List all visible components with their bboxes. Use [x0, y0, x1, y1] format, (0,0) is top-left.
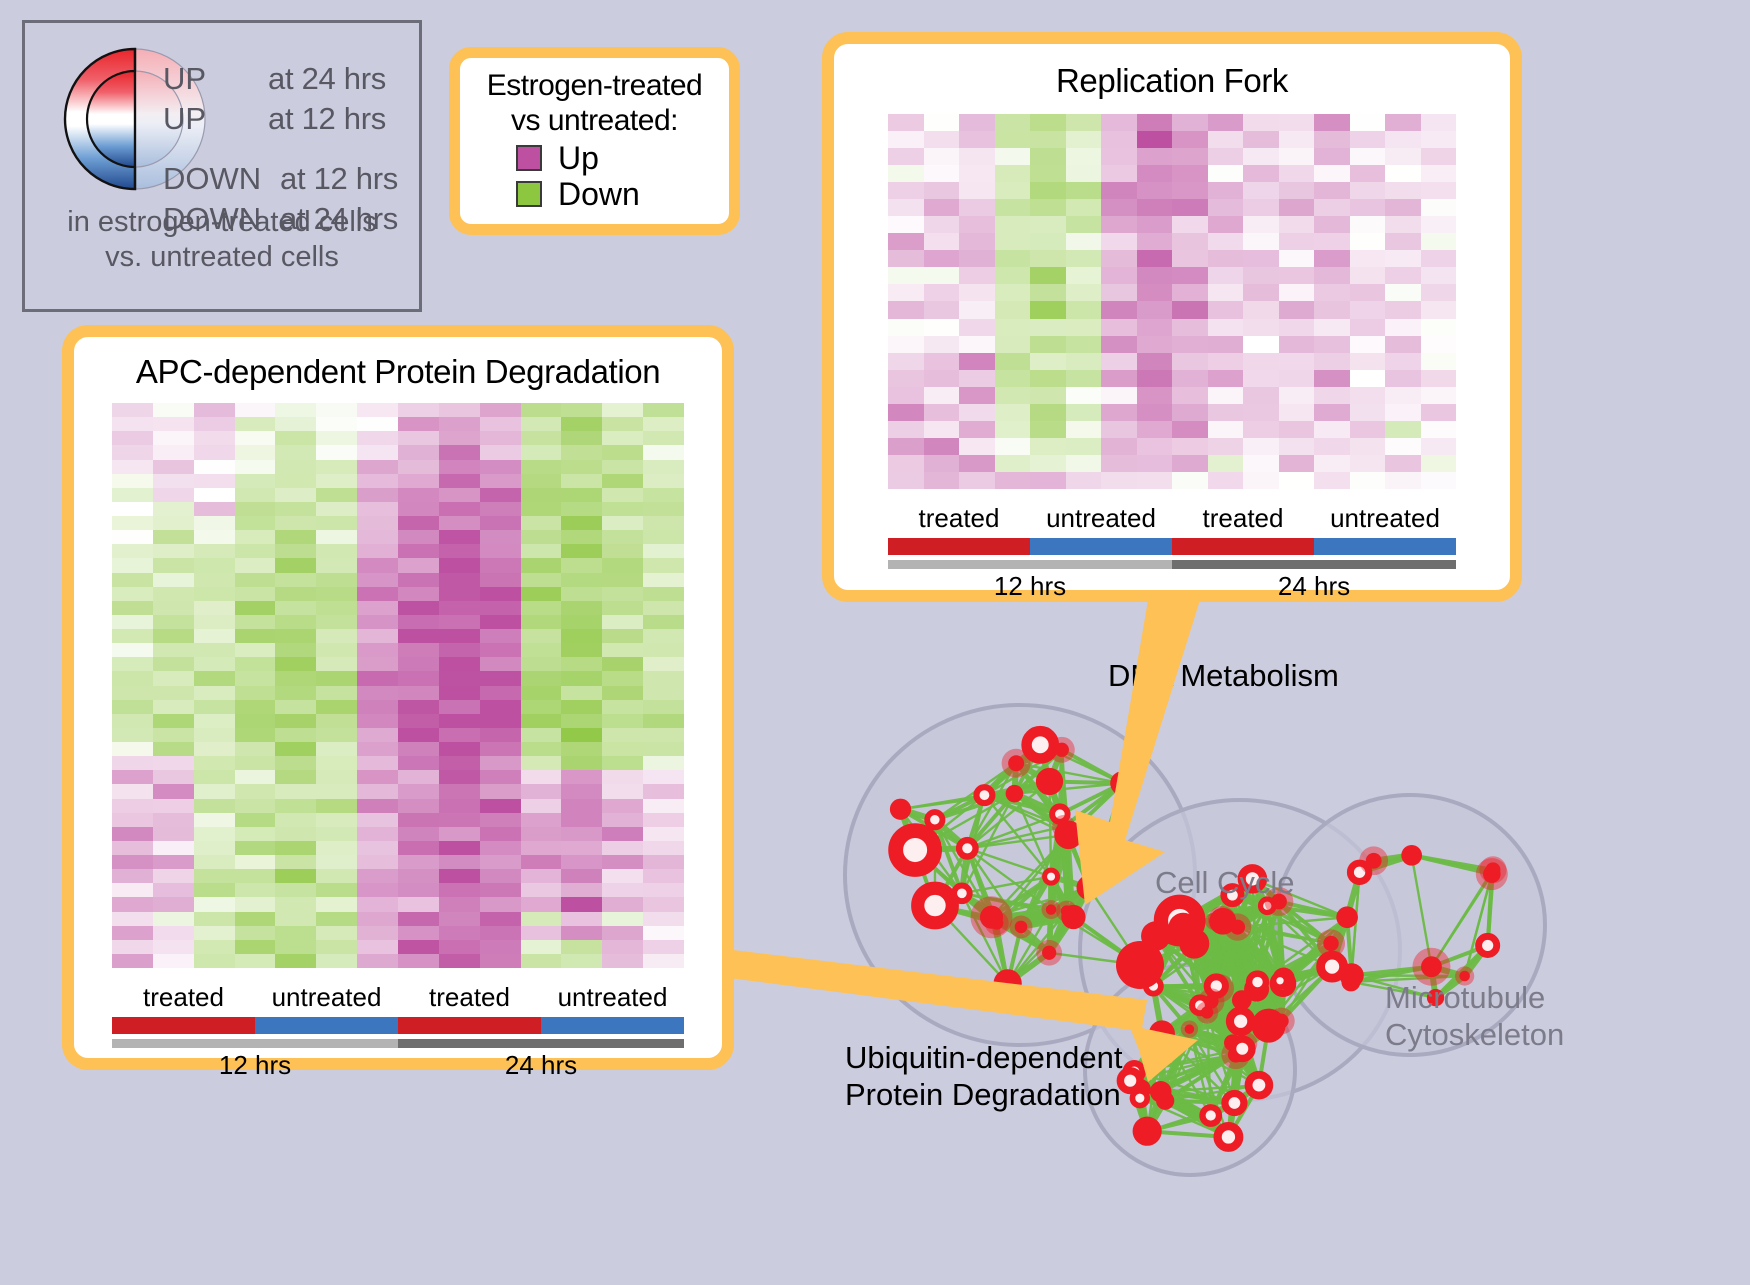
heatmap-cell	[602, 855, 643, 869]
heatmap-cell	[1421, 182, 1457, 199]
heatmap-cell	[1314, 438, 1350, 455]
heatmap-cell	[1066, 165, 1102, 182]
heatmap-cell	[521, 883, 562, 897]
heatmap-cell	[1101, 165, 1137, 182]
heatmap-cell	[1243, 199, 1279, 216]
heatmap-cell	[153, 403, 194, 417]
heatmap-cell	[1137, 421, 1173, 438]
network-node[interactable]	[1201, 1006, 1213, 1018]
heatmap-cell	[275, 940, 316, 954]
heatmap-cell	[1137, 438, 1173, 455]
heatmap-cell	[194, 516, 235, 530]
heatmap-cell	[602, 799, 643, 813]
heatmap-cell	[888, 472, 924, 489]
heatmap-cell	[480, 841, 521, 855]
heatmap-cell	[112, 926, 153, 940]
heatmap-cell	[480, 601, 521, 615]
heatmap-cell	[643, 431, 684, 445]
heatmap-cell	[153, 799, 194, 813]
heatmap-cell	[112, 460, 153, 474]
heatmap-cell	[643, 700, 684, 714]
heatmap-cell	[643, 686, 684, 700]
heatmap-cell	[959, 216, 995, 233]
heatmap-cell	[561, 558, 602, 572]
heatmap-cell	[153, 883, 194, 897]
heatmap-cell	[112, 869, 153, 883]
heatmap-cell	[1172, 250, 1208, 267]
network-node[interactable]	[1233, 1039, 1252, 1058]
bar-time-12	[888, 560, 1172, 569]
heatmap-cell	[1350, 267, 1386, 284]
heatmap-cell	[561, 742, 602, 756]
heatmap-cell	[561, 516, 602, 530]
heatmap-cell	[1172, 233, 1208, 250]
heatmap-cell	[602, 629, 643, 643]
network-node[interactable]	[1218, 1126, 1240, 1148]
heatmap-cell	[1137, 472, 1173, 489]
network-node[interactable]	[1339, 963, 1363, 987]
heatmap-cell	[316, 940, 357, 954]
heatmap-cell	[275, 629, 316, 643]
heatmap-cell	[275, 615, 316, 629]
heatmap-cell	[561, 869, 602, 883]
heatmap-cell	[194, 686, 235, 700]
heatmap-cell	[1385, 353, 1421, 370]
heatmap-cell	[194, 728, 235, 742]
heatmap-cell	[1314, 455, 1350, 472]
heatmap-cell	[316, 897, 357, 911]
heatmap-cell	[995, 421, 1031, 438]
network-node[interactable]	[1008, 755, 1024, 771]
heatmap-cell	[194, 445, 235, 459]
heatmap-cell	[194, 883, 235, 897]
heatmap-cell	[521, 869, 562, 883]
heatmap-cell	[602, 686, 643, 700]
heatmap-cell	[153, 488, 194, 502]
heatmap-cell	[602, 474, 643, 488]
heatmap-cell	[275, 573, 316, 587]
heatmap-cell	[521, 403, 562, 417]
key-footer-line2: vs. untreated cells	[25, 240, 419, 275]
heatmap-cell	[1030, 387, 1066, 404]
heatmap-cell	[439, 460, 480, 474]
heatmap-cell	[112, 897, 153, 911]
heatmap-cell	[1243, 182, 1279, 199]
heatmap-cell	[1421, 387, 1457, 404]
heatmap-cell	[1314, 131, 1350, 148]
network-node[interactable]	[993, 969, 1021, 997]
heatmap-cell	[480, 417, 521, 431]
heatmap-cell	[1279, 438, 1315, 455]
heatmap-cell	[153, 601, 194, 615]
heatmap-cell	[194, 587, 235, 601]
heatmap-cell	[398, 403, 439, 417]
heatmap-cell	[235, 756, 276, 770]
heatmap-cell	[194, 940, 235, 954]
network-node[interactable]	[976, 787, 992, 803]
heatmap-cell	[888, 267, 924, 284]
heatmap-cell	[357, 869, 398, 883]
heatmap-cell	[480, 897, 521, 911]
heatmap-cell	[1421, 421, 1457, 438]
heatmap-cell	[888, 421, 924, 438]
heatmap-cell	[1421, 404, 1457, 421]
heatmap-cell	[1208, 455, 1244, 472]
heatmap-cell	[153, 573, 194, 587]
sample-label-untreated-12: untreated	[1030, 503, 1172, 534]
heatmap-cell	[194, 657, 235, 671]
heatmap-cell	[112, 502, 153, 516]
heatmap-cell	[1208, 182, 1244, 199]
heatmap-cell	[398, 728, 439, 742]
heatmap-cell	[1172, 472, 1208, 489]
network-node[interactable]	[1225, 1094, 1244, 1113]
network-node[interactable]	[1133, 1117, 1162, 1146]
heatmap-cell	[316, 671, 357, 685]
heatmap-cell	[275, 686, 316, 700]
heatmap-cell	[275, 530, 316, 544]
heatmap-cell	[275, 728, 316, 742]
heatmap-cell	[316, 502, 357, 516]
heatmap-cell	[153, 615, 194, 629]
heatmap-cell	[275, 502, 316, 516]
heatmap-cell	[480, 770, 521, 784]
heatmap-cell	[112, 403, 153, 417]
heatmap-cell	[316, 686, 357, 700]
network-node[interactable]	[1274, 975, 1286, 987]
network-node[interactable]	[890, 799, 911, 820]
network-node[interactable]	[1055, 743, 1069, 757]
heatmap-cell	[235, 940, 276, 954]
heatmap-cell	[602, 813, 643, 827]
heatmap-cell	[398, 954, 439, 968]
network-node[interactable]	[1015, 921, 1028, 934]
heatmap-cell	[602, 445, 643, 459]
heatmap-cell	[1385, 421, 1421, 438]
network-node[interactable]	[1274, 1014, 1289, 1029]
heatmap-cell	[888, 182, 924, 199]
heatmap-cell	[275, 643, 316, 657]
heatmap-cell	[1101, 114, 1137, 131]
heatmap-cell	[1314, 182, 1350, 199]
heatmap-cell	[316, 728, 357, 742]
heatmap-cell	[602, 657, 643, 671]
network-node[interactable]	[1168, 913, 1198, 943]
heatmap-cell	[357, 629, 398, 643]
heatmap-cell	[1314, 353, 1350, 370]
heatmap-cell	[357, 671, 398, 685]
bar-treated-12	[112, 1017, 255, 1034]
heatmap-cell	[561, 431, 602, 445]
heatmap-cell	[1243, 267, 1279, 284]
heatmap-cell	[1279, 455, 1315, 472]
heatmap-cell	[561, 657, 602, 671]
heatmap-cell	[602, 756, 643, 770]
heatmap-cell	[357, 502, 398, 516]
network-node[interactable]	[954, 886, 970, 902]
heatmap-cell	[1137, 131, 1173, 148]
heatmap-cell	[439, 813, 480, 827]
heatmap-cell	[1385, 114, 1421, 131]
heatmap-cell	[602, 502, 643, 516]
heatmap-cell	[398, 601, 439, 615]
heatmap-cell	[1030, 131, 1066, 148]
heatmap-cell	[561, 770, 602, 784]
heatmap-cell	[1243, 216, 1279, 233]
heatmap-cell	[153, 558, 194, 572]
heatmap-cell	[1137, 319, 1173, 336]
cluster-label-dna-metabolism: DNA Metabolism	[1108, 658, 1339, 694]
heatmap-cell	[924, 387, 960, 404]
network-node[interactable]	[1249, 974, 1266, 991]
key-footer-line1: in estrogen-treated cells	[25, 205, 419, 240]
heatmap-cell	[194, 756, 235, 770]
heatmap-cell	[602, 883, 643, 897]
network-node[interactable]	[1149, 1020, 1175, 1046]
heatmap-cell	[561, 445, 602, 459]
heatmap-cell	[439, 573, 480, 587]
heatmap-cell	[1172, 284, 1208, 301]
heatmap-cell	[561, 502, 602, 516]
heatmap-cell	[235, 855, 276, 869]
heatmap-cell	[888, 199, 924, 216]
heatmap-cell	[439, 516, 480, 530]
heatmap-cell	[1030, 319, 1066, 336]
heatmap-cell	[194, 431, 235, 445]
network-node[interactable]	[1036, 768, 1063, 795]
heatmap-cell	[194, 912, 235, 926]
heatmap-cell	[235, 530, 276, 544]
heatmap-cell	[153, 657, 194, 671]
heatmap-cell	[112, 855, 153, 869]
network-node[interactable]	[959, 840, 976, 857]
heatmap-cell	[398, 756, 439, 770]
heatmap-cell	[357, 926, 398, 940]
heatmap-cell	[357, 855, 398, 869]
heatmap-cell	[398, 926, 439, 940]
heatmap-cell	[1066, 387, 1102, 404]
heatmap-cell	[1030, 199, 1066, 216]
heatmap-cell	[235, 841, 276, 855]
network-node[interactable]	[1249, 1075, 1270, 1096]
heatmap-cell	[235, 601, 276, 615]
heatmap-cell	[439, 544, 480, 558]
heatmap-cell	[561, 700, 602, 714]
network-node[interactable]	[1230, 1011, 1251, 1032]
heatmap-cell	[1030, 267, 1066, 284]
heatmap-cell	[959, 336, 995, 353]
network-node[interactable]	[1076, 875, 1101, 900]
heatmap-cell	[888, 114, 924, 131]
network-node[interactable]	[1232, 990, 1252, 1010]
bar-time-24	[398, 1039, 684, 1048]
heatmap-cell	[1208, 216, 1244, 233]
heatmap-cell	[1101, 233, 1137, 250]
heatmap-cell	[643, 926, 684, 940]
heatmap-cell	[112, 883, 153, 897]
heatmap-cell	[1101, 472, 1137, 489]
network-node[interactable]	[1486, 862, 1501, 877]
heatmap-cell	[112, 474, 153, 488]
heatmap-cell	[153, 474, 194, 488]
network-node[interactable]	[1336, 906, 1358, 928]
network-node[interactable]	[1421, 956, 1442, 977]
heatmap-cell	[1030, 114, 1066, 131]
heatmap-cell	[194, 629, 235, 643]
heatmap-cell	[112, 784, 153, 798]
network-node[interactable]	[990, 917, 1003, 930]
network-node[interactable]	[918, 888, 953, 923]
heatmap-cell	[643, 855, 684, 869]
heatmap-cell	[480, 460, 521, 474]
network-node[interactable]	[1202, 1107, 1219, 1124]
heatmap-cell	[112, 827, 153, 841]
heatmap-cell	[1172, 455, 1208, 472]
heatmap-cell	[888, 131, 924, 148]
heatmap-cell	[1243, 370, 1279, 387]
heatmap-cell	[924, 472, 960, 489]
heatmap-cell	[959, 438, 995, 455]
network-node[interactable]	[1156, 1092, 1174, 1110]
heatmap-cell	[1385, 404, 1421, 421]
heatmap-cell	[480, 827, 521, 841]
heatmap-cell	[1279, 301, 1315, 318]
heatmap-cell	[235, 813, 276, 827]
network-node[interactable]	[1120, 1071, 1140, 1091]
heatmap-cell	[439, 615, 480, 629]
heatmap-cell	[602, 530, 643, 544]
heatmap-cell	[316, 714, 357, 728]
network-node[interactable]	[1323, 936, 1338, 951]
bar-untreated-24	[1314, 538, 1456, 555]
network-node[interactable]	[1110, 771, 1134, 795]
heatmap-cell	[235, 770, 276, 784]
heatmap-cell	[888, 336, 924, 353]
heatmap-cell	[480, 558, 521, 572]
network-node[interactable]	[1057, 820, 1070, 833]
sample-label-untreated-24: untreated	[541, 982, 684, 1013]
heatmap-cell	[112, 841, 153, 855]
bar-time-12	[112, 1039, 398, 1048]
network-node[interactable]	[1042, 946, 1056, 960]
heatmap-cell	[888, 301, 924, 318]
heatmap-cell	[959, 250, 995, 267]
heatmap-cell	[602, 940, 643, 954]
heatmap-cell	[275, 912, 316, 926]
heatmap-cell	[316, 756, 357, 770]
heatmap-cell	[275, 474, 316, 488]
heatmap-cell	[1137, 404, 1173, 421]
heatmap-cell	[1030, 353, 1066, 370]
heatmap-cell	[1385, 319, 1421, 336]
heatmap-cell	[1137, 165, 1173, 182]
heatmap-cell	[439, 855, 480, 869]
heatmap-cell	[1208, 114, 1244, 131]
heatmap-cell	[480, 502, 521, 516]
heatmap-cell	[602, 926, 643, 940]
heatmap-cell	[275, 756, 316, 770]
network-node[interactable]	[896, 831, 935, 870]
heatmap-cell	[398, 827, 439, 841]
sample-label-treated-12: treated	[888, 503, 1030, 534]
heatmap-cell	[602, 573, 643, 587]
heatmap-cell	[398, 940, 439, 954]
network-node[interactable]	[1214, 912, 1229, 927]
heatmap-cell	[1101, 182, 1137, 199]
heatmap-cell	[521, 714, 562, 728]
heatmap-cell	[1137, 336, 1173, 353]
heatmap-cell	[112, 516, 153, 530]
heatmap-cell	[1030, 336, 1066, 353]
network-node[interactable]	[1061, 905, 1085, 929]
network-node[interactable]	[1366, 853, 1382, 869]
heatmap-cell	[357, 657, 398, 671]
heatmap-cell	[153, 869, 194, 883]
heatmap-cell	[194, 474, 235, 488]
heatmap-cell	[235, 954, 276, 968]
heatmap-cell	[275, 954, 316, 968]
heatmap-cell	[888, 148, 924, 165]
heatmap-cell	[1350, 301, 1386, 318]
heatmap-cell	[439, 784, 480, 798]
heatmap-cell	[275, 544, 316, 558]
heatmap-cell	[398, 516, 439, 530]
heatmap-cell	[480, 940, 521, 954]
heatmap-cell	[153, 530, 194, 544]
network-node[interactable]	[927, 812, 942, 827]
network-node[interactable]	[1401, 845, 1422, 866]
heatmap-cell	[316, 883, 357, 897]
heatmap-cell	[1208, 387, 1244, 404]
network-node[interactable]	[1116, 941, 1164, 989]
heatmap-cell	[153, 700, 194, 714]
heatmap-cell	[995, 148, 1031, 165]
legend-label-down: Down	[558, 178, 640, 210]
network-node[interactable]	[1006, 785, 1024, 803]
heatmap-cell	[1421, 301, 1457, 318]
network-node[interactable]	[1185, 1024, 1195, 1034]
heatmap-cell	[1101, 250, 1137, 267]
network-node[interactable]	[1046, 904, 1056, 914]
heatmap-cell	[112, 657, 153, 671]
heatmap-cell	[275, 587, 316, 601]
key-time-up-12: at 12 hrs	[268, 101, 386, 137]
heatmap-cell	[112, 671, 153, 685]
heatmap-cell	[153, 671, 194, 685]
heatmap-cell	[439, 671, 480, 685]
heatmap-cell	[275, 799, 316, 813]
heatmap-cell	[643, 558, 684, 572]
heatmap-cell	[357, 601, 398, 615]
heatmap-cell	[235, 417, 276, 431]
heatmap-cell	[995, 250, 1031, 267]
heatmap-cell	[643, 954, 684, 968]
heatmap-cell	[521, 530, 562, 544]
bar-treated-12	[888, 538, 1030, 555]
heatmap-cell	[602, 403, 643, 417]
cluster-label-ubiquitin-line2: Protein Degradation	[845, 1077, 1123, 1114]
heatmap-cell	[1350, 421, 1386, 438]
heatmap-cell	[235, 799, 276, 813]
heatmap-cell	[275, 841, 316, 855]
heatmap-cell	[643, 460, 684, 474]
heatmap-cell	[153, 445, 194, 459]
heatmap-cell	[888, 216, 924, 233]
network-node[interactable]	[1045, 870, 1058, 883]
network-node[interactable]	[1479, 936, 1497, 954]
heatmap-cell	[521, 954, 562, 968]
heatmap-cell	[561, 671, 602, 685]
